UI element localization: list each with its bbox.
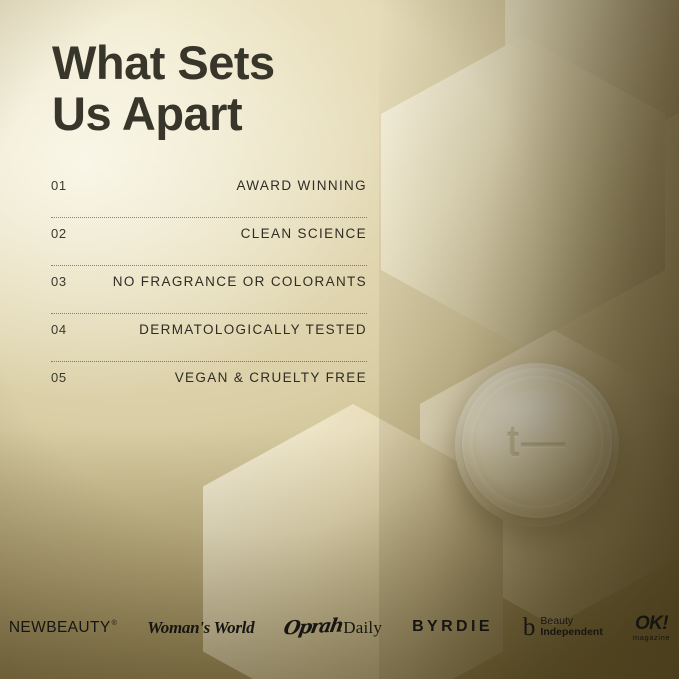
title-line-2: Us Apart: [52, 89, 275, 140]
list-item-label: DERMATOLOGICALLY TESTED: [139, 322, 367, 337]
list-item-number: 01: [51, 178, 67, 193]
list-item-label: VEGAN & CRUELTY FREE: [175, 370, 367, 385]
press-logo-ok-magazine: OK! magazine: [633, 614, 670, 642]
list-item-label: AWARD WINNING: [236, 178, 367, 193]
beauty-independent-b-icon: b: [523, 617, 536, 638]
press-logo-oprah-daily: Oprah Daily: [284, 618, 382, 637]
page-title: What Sets Us Apart: [52, 38, 275, 140]
list-item-label: NO FRAGRANCE OR COLORANTS: [113, 274, 367, 289]
list-item-number: 02: [51, 226, 67, 241]
trademark-symbol: ®: [112, 620, 118, 627]
press-logo-oprah-daily-word: Daily: [343, 619, 382, 636]
list-item: 02 CLEAN SCIENCE: [51, 226, 367, 258]
list-divider: [51, 313, 367, 314]
list-divider: [51, 361, 367, 362]
poster-content: What Sets Us Apart 01 AWARD WINNING 02 C…: [0, 0, 679, 679]
feature-list: 01 AWARD WINNING 02 CLEAN SCIENCE 03 NO …: [51, 178, 367, 402]
title-line-1: What Sets: [52, 38, 275, 89]
list-item: 05 VEGAN & CRUELTY FREE: [51, 370, 367, 402]
press-logo-byrdie: BYRDIE: [412, 619, 493, 635]
list-item-number: 03: [51, 274, 67, 289]
list-item: 03 NO FRAGRANCE OR COLORANTS: [51, 274, 367, 306]
press-logo-womans-world: Woman's World: [147, 619, 254, 636]
press-logo-newbeauty: NEWBEAUTY®: [9, 620, 117, 636]
list-item-number: 05: [51, 370, 67, 385]
ok-magazine-wordmark: OK!: [635, 614, 668, 633]
beauty-independent-wordmark: Beauty Independent: [540, 616, 602, 639]
beauty-independent-line-2: Independent: [540, 627, 602, 638]
press-logo-bar: NEWBEAUTY® Woman's World Oprah Daily BYR…: [0, 614, 679, 642]
list-item-label: CLEAN SCIENCE: [241, 226, 367, 241]
promo-poster: t— What Sets Us Apart 01 AWARD WINNING 0…: [0, 0, 679, 679]
press-logo-oprah-script: Oprah: [282, 616, 344, 638]
press-logo-beauty-independent: b Beauty Independent: [523, 616, 603, 639]
list-divider: [51, 265, 367, 266]
list-item-number: 04: [51, 322, 67, 337]
press-logo-newbeauty-text: NEWBEAUTY: [9, 619, 111, 636]
list-item: 01 AWARD WINNING: [51, 178, 367, 210]
list-divider: [51, 217, 367, 218]
list-item: 04 DERMATOLOGICALLY TESTED: [51, 322, 367, 354]
ok-magazine-subtitle: magazine: [633, 634, 670, 642]
